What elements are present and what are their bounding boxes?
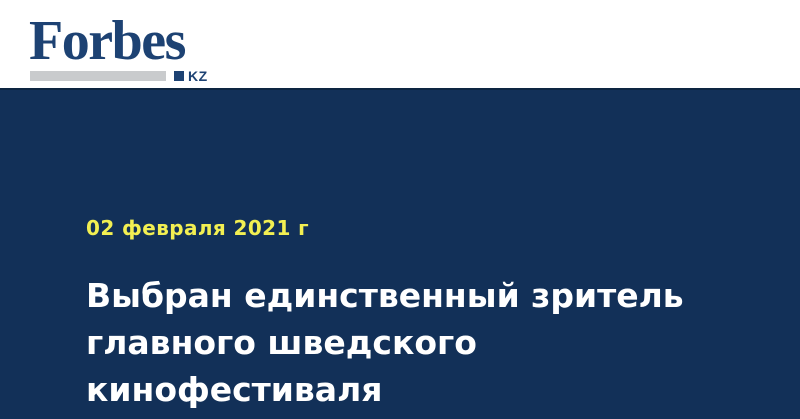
logo-kz-suffix: KZ [188,69,208,83]
article-headline: Выбран единственный зритель главного шве… [86,272,706,413]
article-headline-line-3: кинофестиваля [86,366,706,413]
article-headline-line-1: Выбран единственный зритель [86,272,706,319]
logo-gray-bar-icon [30,71,166,81]
article-date: 02 февраля 2021 г [86,216,309,240]
site-header: Forbes KZ [0,0,800,88]
logo-square-icon [174,71,184,81]
forbes-wordmark: Forbes [29,13,185,69]
article-hero-background: 02 февраля 2021 г Выбран единственный зр… [0,90,800,419]
forbes-kz-logo[interactable]: Forbes KZ [29,13,229,79]
article-headline-line-2: главного шведского [86,319,706,366]
article-hero-card: Forbes KZ 02 февраля 2021 г Выбран единс… [0,0,800,419]
